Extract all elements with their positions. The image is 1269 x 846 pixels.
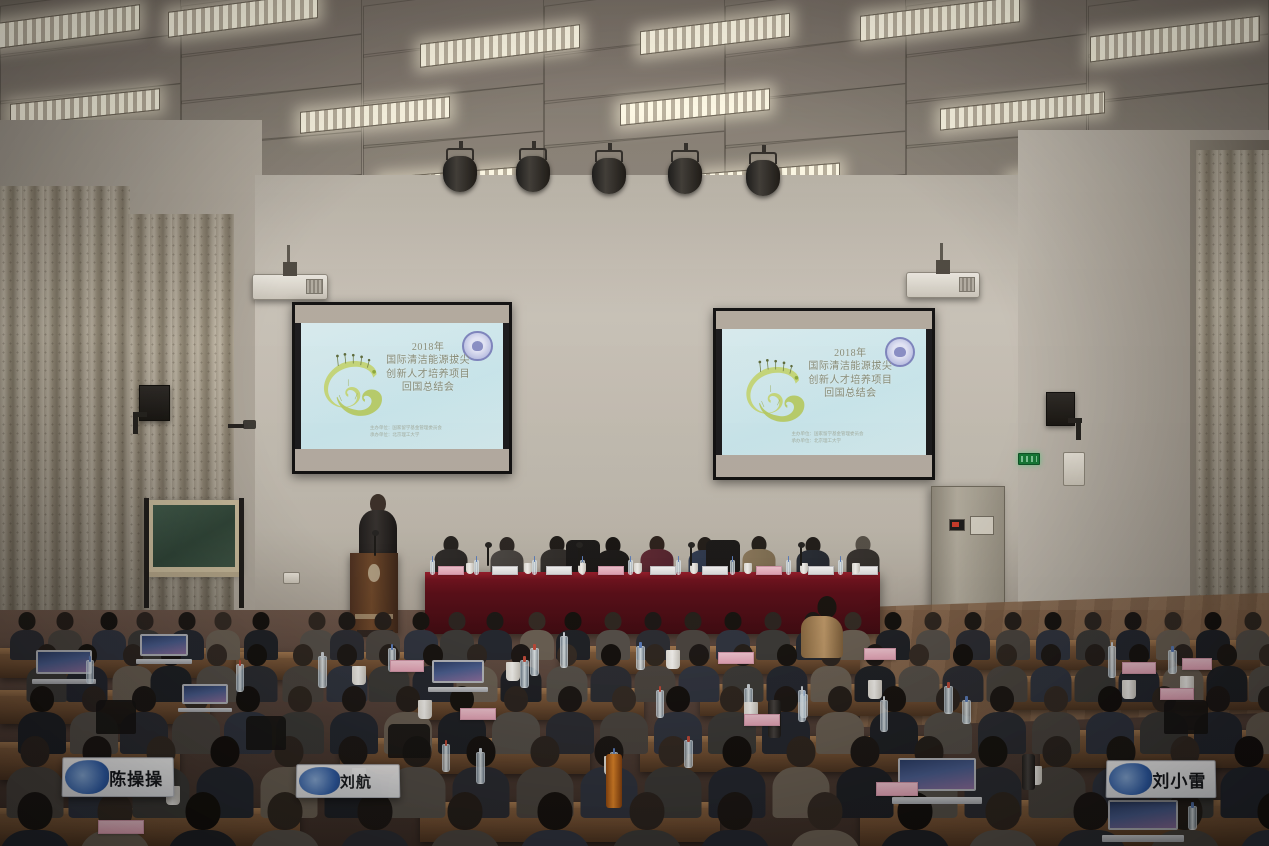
paper-cup — [352, 666, 366, 685]
attendee-head — [1234, 736, 1263, 767]
table-microphone — [487, 546, 489, 566]
head-table-name-card — [546, 566, 572, 575]
attendee-head — [1125, 612, 1142, 630]
laptop-keyboard — [892, 797, 982, 804]
curtain-left-far — [0, 186, 130, 666]
curtain-right — [1196, 150, 1269, 670]
paper-cup-head-table — [634, 563, 642, 574]
attendee-head — [375, 612, 392, 630]
slide-content-left: 2018年 国际清洁能源拔尖 创新人才培养项目 回国总结会 主办单位：国家留学基… — [301, 323, 502, 449]
laptop-screen — [432, 660, 484, 683]
desk-name-card — [876, 782, 918, 796]
conference-hall-photo: 2018年 国际清洁能源拔尖 创新人才培养项目 回国总结会 主办单位：国家留学基… — [0, 0, 1269, 846]
attendee-head — [342, 686, 366, 712]
placard-chen-caocao: 陈操操 — [62, 757, 175, 797]
screen-top-casing — [295, 305, 509, 323]
cabinet-label — [970, 516, 994, 535]
attendee-torso — [968, 830, 1038, 846]
table-microphone — [800, 546, 802, 566]
chalkboard-tray — [146, 572, 242, 577]
slide-line3: 创新人才培养项目 — [366, 368, 491, 381]
attendee-head — [565, 612, 582, 630]
slide-year: 2018年 — [787, 347, 913, 360]
attendee-head — [666, 686, 690, 712]
paper-cup — [506, 662, 520, 681]
attendee-head — [965, 612, 982, 630]
desk-name-card — [864, 648, 896, 660]
attendee-head — [953, 644, 973, 666]
attendee-head — [339, 612, 356, 630]
audience-member — [520, 792, 590, 846]
head-table-name-card — [808, 566, 834, 575]
presenter-at-podium — [358, 494, 398, 556]
head-table-name-card — [756, 566, 782, 575]
attendee-head — [448, 792, 483, 830]
paper-cup — [418, 700, 432, 719]
laptop-keyboard — [1102, 835, 1183, 842]
attendee-head — [645, 612, 662, 630]
spotlight-body — [746, 160, 780, 196]
stage-spotlight — [516, 148, 550, 194]
attendee-head — [1098, 686, 1122, 712]
water-bottle — [684, 740, 693, 768]
podium-microphone — [374, 534, 376, 556]
attendee-head — [487, 612, 504, 630]
water-bottle-head-table — [430, 560, 435, 575]
chair-back — [246, 716, 286, 750]
spotlight-body — [592, 158, 626, 194]
water-bottle — [962, 700, 971, 724]
attendee-head — [1258, 686, 1269, 712]
projection-screen-left: 2018年 国际清洁能源拔尖 创新人才培养项目 回国总结会 主办单位：国家留学基… — [292, 302, 512, 474]
paper-cup-head-table — [852, 563, 860, 574]
chair-back — [388, 724, 430, 758]
placard-name-text: 刘小雷 — [1152, 767, 1206, 792]
water-bottle — [520, 660, 529, 688]
placard-logo-icon — [299, 767, 340, 795]
attendee-head — [20, 736, 49, 767]
attendee-torso — [430, 830, 500, 846]
paper-cup-head-table — [744, 563, 752, 574]
audience-member — [700, 792, 770, 846]
water-bottle — [798, 690, 806, 722]
slide-sub-host: 承办单位：北京理工大学 — [792, 438, 914, 445]
projector-right — [906, 272, 980, 298]
attendee-head — [1259, 644, 1269, 666]
thermos-flask — [1022, 754, 1035, 790]
attendee-head — [828, 686, 852, 712]
slide-line2: 国际清洁能源拔尖 — [787, 360, 913, 373]
screen-bottom-bar — [716, 455, 932, 477]
attendee-head — [765, 612, 782, 630]
water-bottle — [476, 752, 485, 784]
attendee-head — [504, 686, 528, 712]
audience-member — [340, 792, 410, 846]
attendee-head — [293, 644, 313, 666]
mic-head-icon — [372, 530, 379, 536]
audience-member — [1240, 792, 1269, 846]
table-microphone — [690, 546, 692, 566]
head-table-name-card — [702, 566, 728, 575]
placard-logo-icon — [1109, 763, 1153, 795]
slide-line3: 创新人才培养项目 — [787, 374, 913, 387]
head-table-name-card — [438, 566, 464, 575]
slide-title-right: 2018年 国际清洁能源拔尖 创新人才培养项目 回国总结会 — [787, 347, 913, 401]
attendee-torso — [700, 830, 770, 846]
placard-logo-icon — [65, 760, 109, 794]
attendee-head — [1217, 644, 1237, 666]
attendee-head — [247, 644, 267, 666]
desk-name-card — [1182, 658, 1212, 670]
attendee-torso — [340, 830, 410, 846]
chalkboard-leg-left — [144, 498, 149, 608]
attendee-head — [137, 612, 154, 630]
water-bottle — [560, 636, 568, 668]
laptop — [432, 660, 484, 692]
attendee-head — [1206, 686, 1230, 712]
water-bottle-head-table — [786, 560, 791, 575]
chalkboard-leg-right — [239, 498, 244, 608]
audience-member — [612, 792, 682, 846]
attendee-head — [215, 612, 232, 630]
attendee-torso — [168, 830, 238, 846]
attendee-torso — [250, 830, 320, 846]
slide-title-left: 2018年 国际清洁能源拔尖 创新人才培养项目 回国总结会 — [366, 341, 491, 395]
head-table-name-card — [492, 566, 518, 575]
attendee-head — [18, 792, 53, 830]
laptop — [182, 684, 228, 712]
attendee-head — [1074, 792, 1109, 830]
attendee-head — [1044, 686, 1068, 712]
water-bottle-head-table — [676, 560, 681, 575]
slide-subtitle-right: 主办单位：国家留学基金管理委员会 承办单位：北京理工大学 — [792, 431, 914, 444]
water-bottle — [318, 656, 327, 688]
attendee-head — [909, 644, 929, 666]
attendee-head — [1045, 612, 1062, 630]
attendee-head — [685, 612, 702, 630]
paper-cup — [1122, 680, 1136, 699]
attendee-head — [925, 612, 942, 630]
placard-name-text: 陈操操 — [109, 765, 163, 790]
laptop-keyboard — [178, 708, 231, 712]
table-microphone — [578, 546, 580, 566]
attendee-head — [601, 644, 621, 666]
projector-bracket — [936, 260, 950, 274]
attendee-torso — [520, 830, 590, 846]
water-bottle — [1108, 646, 1116, 678]
attendee-head — [558, 686, 582, 712]
attendee-head — [396, 686, 420, 712]
desk-name-card — [744, 714, 780, 726]
laptop — [898, 758, 976, 804]
water-bottle — [86, 660, 94, 684]
chalkboard — [148, 500, 240, 572]
water-bottle-head-table — [474, 560, 479, 575]
attendee-head — [538, 792, 573, 830]
attendee-head — [288, 686, 312, 712]
water-bottle — [1188, 806, 1197, 830]
wall-socket-left — [283, 572, 300, 584]
laptop-screen — [182, 684, 228, 704]
projector-lens — [959, 277, 975, 292]
attendee-head — [885, 612, 902, 630]
attendee-head — [101, 612, 118, 630]
mic-head-icon — [485, 542, 492, 548]
attendee-torso — [880, 830, 950, 846]
head-table-name-card — [650, 566, 676, 575]
stage-spotlight — [668, 150, 702, 196]
water-bottle-head-table — [730, 560, 735, 575]
spotlight-body — [668, 158, 702, 194]
attendee-head — [1205, 612, 1222, 630]
water-bottle — [236, 664, 244, 692]
attendee-head — [1042, 736, 1071, 767]
spotlight-body — [516, 156, 550, 192]
curtain-texture — [1196, 150, 1269, 670]
attendee-torso — [790, 830, 860, 846]
mic-head-icon — [688, 542, 695, 548]
attendee-head — [645, 644, 665, 666]
laptop-keyboard — [428, 687, 488, 692]
attendee-torso — [1240, 830, 1269, 846]
attendee-head — [612, 686, 636, 712]
attendee-head — [57, 612, 74, 630]
screen-bottom-bar — [295, 449, 509, 471]
speaker-right-pole — [1076, 418, 1081, 440]
attendee-head — [845, 612, 862, 630]
attendee-torso — [0, 830, 70, 846]
curtain-texture — [0, 186, 130, 666]
attendee-head — [720, 686, 744, 712]
audience-member — [430, 792, 500, 846]
attendee-head — [179, 612, 196, 630]
attendee-head — [309, 612, 326, 630]
attendee-head — [1258, 792, 1269, 830]
attendee-head — [1165, 612, 1182, 630]
mic-head-icon — [798, 542, 805, 548]
attendee-head — [818, 596, 837, 618]
attendee-head — [413, 612, 430, 630]
attendee-head — [30, 686, 54, 712]
attendee-torso — [801, 616, 843, 658]
attendee-head — [786, 736, 815, 767]
speaker-left-pole — [133, 412, 138, 434]
desk-name-card — [390, 660, 424, 672]
slide-line4: 回国总结会 — [366, 381, 491, 394]
stage-spotlight — [443, 148, 477, 194]
placard-liu-xiaolei: 刘小雷 — [1106, 760, 1217, 798]
panel-line — [1067, 461, 1081, 464]
attendee-head — [978, 736, 1007, 767]
attendee-head — [986, 792, 1021, 830]
laptop — [140, 634, 188, 664]
desk-name-card — [460, 708, 496, 720]
attendee-head — [689, 644, 709, 666]
paper-cup — [868, 680, 882, 699]
slide-line2: 国际清洁能源拔尖 — [366, 354, 491, 367]
attendee-head — [997, 644, 1017, 666]
attendee-head — [718, 792, 753, 830]
attendee-head — [253, 612, 270, 630]
placard-name-text: 刘航 — [340, 771, 372, 792]
attendee-head — [658, 736, 687, 767]
water-bottle — [442, 744, 450, 772]
camera-bracket — [228, 424, 244, 428]
attendee-head — [808, 792, 843, 830]
attendee-head — [338, 736, 367, 767]
laptop — [1108, 800, 1178, 842]
slide-subtitle-left: 主办单位：国家留学基金管理委员会 承办单位：北京理工大学 — [370, 425, 491, 438]
attendee-head — [605, 612, 622, 630]
chair-back — [1164, 700, 1208, 734]
spotlight-body — [443, 156, 477, 192]
audience-member — [250, 792, 320, 846]
stage-spotlight — [746, 152, 780, 198]
screen-top-casing — [716, 311, 932, 329]
desk-name-card — [1122, 662, 1156, 674]
water-bottle — [944, 686, 953, 714]
projection-screen-right: 2018年 国际清洁能源拔尖 创新人才培养项目 回国总结会 主办单位：国家留学基… — [713, 308, 935, 480]
mic-head-icon — [576, 542, 583, 548]
water-bottle — [530, 648, 539, 676]
attendee-head — [207, 644, 227, 666]
water-bottle-head-table — [838, 560, 843, 575]
attendee-head — [630, 792, 665, 830]
laptop-screen — [140, 634, 188, 656]
attendee-head — [337, 644, 357, 666]
panel-line — [1067, 475, 1081, 478]
chair-back — [96, 700, 136, 734]
desk-name-card — [98, 820, 144, 834]
head-table-name-card — [598, 566, 624, 575]
attendee-head — [19, 612, 36, 630]
projector-bracket — [283, 262, 297, 276]
paper-cup-head-table — [466, 563, 474, 574]
camera-icon — [243, 420, 256, 429]
audience-member — [80, 792, 150, 846]
stage-spotlight — [592, 150, 626, 196]
exit-sign — [1018, 453, 1040, 465]
attendee-head — [1041, 644, 1061, 666]
water-bottle — [880, 700, 888, 732]
laptop-keyboard — [136, 659, 192, 664]
thermos-flask — [606, 754, 622, 808]
water-bottle-head-table — [628, 560, 633, 575]
attendee-head — [1085, 644, 1105, 666]
podium-emblem-icon — [368, 564, 380, 582]
water-bottle — [1168, 650, 1177, 674]
paper-cup — [666, 650, 680, 669]
cabinet-display — [949, 519, 965, 531]
laptop-screen — [36, 650, 92, 674]
attendee-head — [1245, 612, 1262, 630]
attendee-head — [530, 736, 559, 767]
slide-year: 2018年 — [366, 341, 491, 354]
water-bottle — [636, 646, 645, 670]
slide-sub-host: 承办单位：北京理工大学 — [370, 432, 491, 439]
slide-line4: 回国总结会 — [787, 387, 913, 400]
laptop-screen — [1108, 800, 1178, 830]
projector-lens — [306, 279, 322, 294]
attendee-head — [722, 736, 751, 767]
attendee-head — [529, 612, 546, 630]
laptop — [36, 650, 92, 684]
audience-member — [790, 792, 860, 846]
standing-attendee — [800, 596, 844, 658]
wall-control-panel — [1063, 452, 1085, 486]
paper-cup-head-table — [524, 563, 532, 574]
attendee-head — [850, 736, 879, 767]
attendee-head — [449, 612, 466, 630]
projector-left — [252, 274, 328, 300]
water-bottle — [656, 690, 664, 718]
water-bottle-head-table — [532, 560, 537, 575]
desk-name-card — [718, 652, 754, 664]
attendee-head — [210, 736, 239, 767]
panel-line — [1067, 468, 1081, 471]
attendee-torso — [612, 830, 682, 846]
attendee-head — [777, 644, 797, 666]
attendee-head — [186, 792, 221, 830]
attendee-head — [725, 612, 742, 630]
attendee-head — [1085, 612, 1102, 630]
placard-liu-hang: 刘航 — [296, 764, 401, 798]
slide-content-right: 2018年 国际清洁能源拔尖 创新人才培养项目 回国总结会 主办单位：国家留学基… — [722, 329, 925, 455]
attendee-head — [1005, 612, 1022, 630]
audience-member — [0, 792, 70, 846]
attendee-head — [990, 686, 1014, 712]
desk-name-card — [1160, 688, 1194, 700]
cabinet-led — [952, 522, 959, 527]
